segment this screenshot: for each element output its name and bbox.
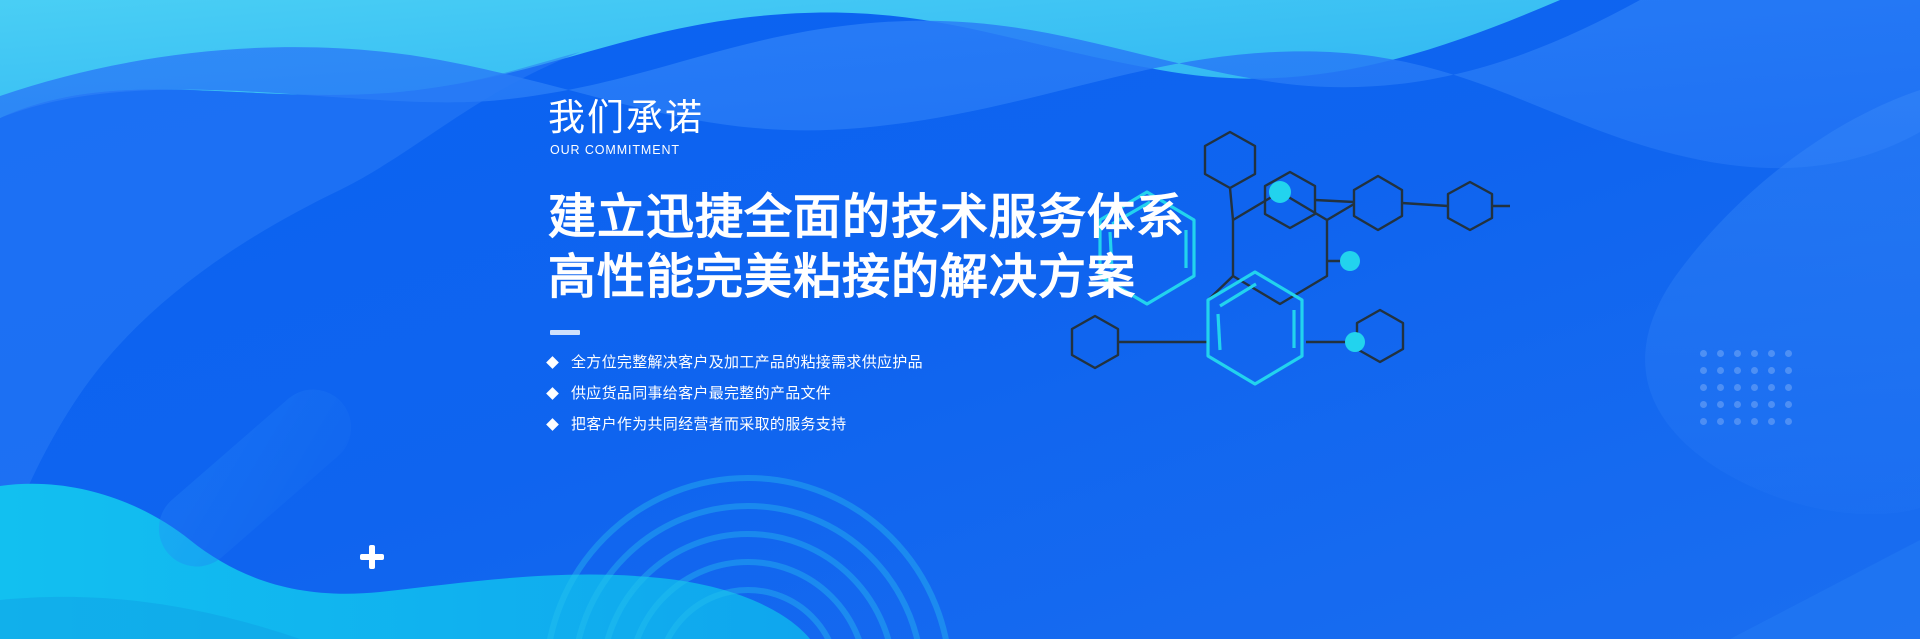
list-item-label: 把客户作为共同经营者而采取的服务支持 <box>571 415 846 434</box>
eyebrow-subtitle-en: OUR COMMITMENT <box>550 142 1308 158</box>
section-divider <box>550 330 580 335</box>
rounded-pill-shape <box>143 374 366 582</box>
commitment-list: 全方位完整解决客户及加工产品的粘接需求供应护品 供应货品同事给客户最完整的产品文… <box>548 353 1308 434</box>
blob-cyan-bottom-left <box>0 484 810 639</box>
headline-line-1: 建立迅捷全面的技术服务体系 <box>548 188 1308 248</box>
promo-banner: 我们承诺 OUR COMMITMENT 建立迅捷全面的技术服务体系 高性能完美粘… <box>0 0 1920 639</box>
diamond-bullet-icon <box>546 387 559 400</box>
diamond-bullet-icon <box>546 418 559 431</box>
list-item: 供应货品同事给客户最完整的产品文件 <box>548 384 1308 403</box>
list-item: 把客户作为共同经营者而采取的服务支持 <box>548 415 1308 434</box>
diamond-bullet-icon <box>546 356 559 369</box>
banner-content: 我们承诺 OUR COMMITMENT 建立迅捷全面的技术服务体系 高性能完美粘… <box>548 96 1308 434</box>
headline-block: 建立迅捷全面的技术服务体系 高性能完美粘接的解决方案 <box>548 188 1308 308</box>
list-item: 全方位完整解决客户及加工产品的粘接需求供应护品 <box>548 353 1308 372</box>
list-item-label: 全方位完整解决客户及加工产品的粘接需求供应护品 <box>571 353 923 372</box>
wave-left-mid <box>0 52 580 556</box>
wave-right-blue <box>1645 90 1920 514</box>
eyebrow-title-cn: 我们承诺 <box>548 96 1308 140</box>
headline-line-2: 高性能完美粘接的解决方案 <box>548 248 1308 308</box>
blob-deep-bottom-left <box>0 597 300 639</box>
plus-mark-icon <box>360 545 384 569</box>
concentric-rings <box>546 478 950 639</box>
list-item-label: 供应货品同事给客户最完整的产品文件 <box>571 384 831 403</box>
corner-diagonal-bottom-right <box>1730 540 1920 639</box>
dot-grid-pattern-icon <box>1700 350 1802 435</box>
